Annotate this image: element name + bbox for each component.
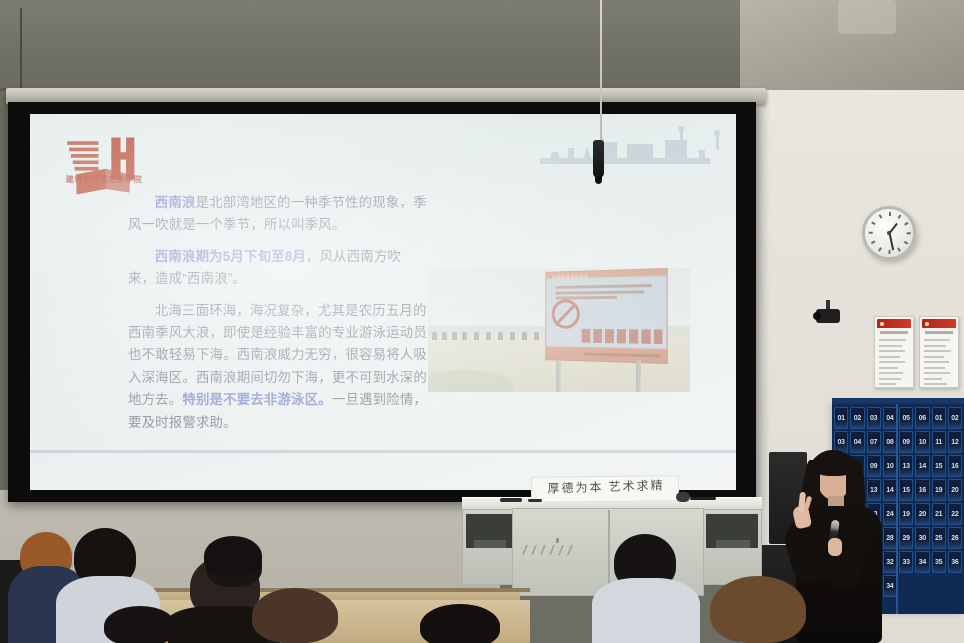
phone-pocket-19-36[interactable]: 19 bbox=[899, 503, 913, 525]
phone-pocket-16-23[interactable]: 16 bbox=[948, 455, 962, 477]
poster-title-left bbox=[880, 331, 908, 334]
phone-pocket-34-53[interactable]: 34 bbox=[915, 551, 929, 573]
phone-pocket-10-13[interactable]: 10 bbox=[915, 431, 929, 453]
phone-pocket-02-7[interactable]: 02 bbox=[948, 407, 962, 429]
sign-footer-text bbox=[584, 352, 661, 357]
slide-paragraph-1: 西南浪是北部湾地区的一种季节性的现象，季风一吹就是一个季节，所以叫季风。 bbox=[128, 192, 428, 237]
desk-object-mouse[interactable] bbox=[676, 492, 690, 502]
lectern-vents-left bbox=[524, 545, 584, 555]
no-swimming-icon bbox=[552, 299, 580, 329]
slide-paragraph-2: 西南浪期为5月下旬至8月，风从西南方吹来，造成“西南浪”。 bbox=[128, 246, 428, 291]
desk-label-right bbox=[716, 540, 750, 548]
audience-head-5 bbox=[252, 588, 338, 643]
phone-pocket-13-20[interactable]: 13 bbox=[899, 455, 913, 477]
clock-center-pin bbox=[887, 231, 891, 235]
phone-pocket-02-1[interactable]: 02 bbox=[850, 407, 864, 429]
phone-pocket-16-29[interactable]: 16 bbox=[915, 479, 929, 501]
phone-pocket-03-2[interactable]: 03 bbox=[867, 407, 881, 429]
poster-lines-right bbox=[924, 339, 954, 388]
clock-minute-hand bbox=[889, 233, 894, 250]
slide-highlight-1: 西南浪 bbox=[155, 195, 196, 210]
phone-pocket-25-46[interactable]: 25 bbox=[932, 527, 946, 549]
warning-sign-board: 北海银滩海滨浴场 bbox=[545, 268, 667, 364]
city-skyline-watermark bbox=[540, 124, 730, 164]
phone-pocket-01-6[interactable]: 01 bbox=[932, 407, 946, 429]
slide-paragraph-3: 北海三面环海，海况复杂，尤其是农历五月的西南季风大浪，即使是经验丰富的专业游泳运… bbox=[128, 300, 428, 434]
phone-pocket-05-4[interactable]: 05 bbox=[899, 407, 913, 429]
screen-lower-band bbox=[30, 450, 736, 453]
screen-pull-cord[interactable] bbox=[20, 8, 22, 90]
photo-beach-crowd bbox=[428, 328, 548, 340]
phone-pocket-15-28[interactable]: 15 bbox=[899, 479, 913, 501]
phone-pocket-11-14[interactable]: 11 bbox=[932, 431, 946, 453]
notice-poster-right bbox=[919, 316, 959, 388]
ceiling-mic-tip bbox=[595, 176, 602, 184]
sign-post-left bbox=[556, 360, 561, 392]
phone-pocket-06-5[interactable]: 06 bbox=[915, 407, 929, 429]
phone-pocket-14-21[interactable]: 14 bbox=[915, 455, 929, 477]
sign-post-right bbox=[636, 360, 641, 392]
presenter-mic-hand bbox=[828, 538, 842, 556]
audience-body-7 bbox=[592, 578, 700, 643]
phone-pocket-29-44[interactable]: 29 bbox=[899, 527, 913, 549]
phone-pocket-19-30[interactable]: 19 bbox=[932, 479, 946, 501]
ceiling-mic-cable bbox=[600, 0, 602, 140]
phone-pocket-12-15[interactable]: 12 bbox=[948, 431, 962, 453]
wall-clock bbox=[862, 206, 916, 260]
beach-warning-sign-photo: 北海银滩海滨浴场 bbox=[428, 268, 690, 392]
phone-pocket-01-0[interactable]: 01 bbox=[834, 407, 848, 429]
phone-pocket-35-54[interactable]: 35 bbox=[932, 551, 946, 573]
phone-pocket-33-52[interactable]: 33 bbox=[899, 551, 913, 573]
poster-badge-icon bbox=[880, 322, 884, 326]
sign-top-text: 北海银滩海滨浴场 bbox=[552, 274, 589, 281]
projector-screen-surface: 建筑与环境艺术学院 西南浪是北部湾地区的一种季节性的现象，季风一吹就是一个季节，… bbox=[30, 114, 736, 490]
desk-label-left bbox=[474, 540, 506, 548]
ceiling-microphone bbox=[593, 140, 604, 178]
logo-caption: 建筑与环境艺术学院 bbox=[44, 174, 164, 185]
phone-pocket-30-45[interactable]: 30 bbox=[915, 527, 929, 549]
phone-pocket-22-39[interactable]: 22 bbox=[948, 503, 962, 525]
phone-pocket-36-55[interactable]: 36 bbox=[948, 551, 962, 573]
poster-header-right bbox=[922, 319, 956, 328]
lectern-lock-left bbox=[556, 538, 559, 543]
phone-pocket-21-38[interactable]: 21 bbox=[932, 503, 946, 525]
audience-head-10 bbox=[104, 606, 176, 643]
camera-lens-icon bbox=[813, 312, 821, 320]
slide-body-text: 西南浪是北部湾地区的一种季节性的现象，季风一吹就是一个季节，所以叫季风。 西南浪… bbox=[128, 192, 428, 434]
wall-patch bbox=[838, 0, 896, 34]
desk-object-laptop-edge bbox=[500, 498, 522, 502]
desk-object-remote bbox=[528, 499, 542, 502]
poster-title-right bbox=[925, 331, 953, 334]
phone-grid-divider bbox=[896, 404, 898, 614]
sign-body-lines bbox=[555, 284, 660, 302]
phone-pocket-09-12[interactable]: 09 bbox=[899, 431, 913, 453]
phone-pocket-20-37[interactable]: 20 bbox=[915, 503, 929, 525]
phone-pocket-04-3[interactable]: 04 bbox=[883, 407, 897, 429]
notice-poster-left bbox=[874, 316, 914, 388]
audience-head-8 bbox=[710, 576, 806, 643]
sign-main-text bbox=[582, 329, 663, 344]
slide-highlight-3: 特别是不要去非游泳区。 bbox=[182, 392, 332, 407]
lecture-hall-scene: 建筑与环境艺术学院 西南浪是北部湾地区的一种季节性的现象，季风一吹就是一个季节，… bbox=[0, 0, 964, 643]
poster-header-left bbox=[877, 319, 911, 328]
phone-pocket-15-22[interactable]: 15 bbox=[932, 455, 946, 477]
phone-pocket-20-31[interactable]: 20 bbox=[948, 479, 962, 501]
poster-lines-left bbox=[879, 339, 909, 388]
lectern-door-split bbox=[608, 510, 610, 594]
poster-badge-icon-2 bbox=[925, 322, 929, 326]
building-logo-icon bbox=[58, 132, 150, 200]
phone-pocket-26-47[interactable]: 26 bbox=[948, 527, 962, 549]
audience-head-9 bbox=[420, 604, 500, 643]
audience-head-6 bbox=[204, 536, 262, 576]
slide-highlight-2: 西南浪期为5月下旬至8月 bbox=[155, 249, 306, 264]
desk-object-cable bbox=[690, 497, 716, 500]
